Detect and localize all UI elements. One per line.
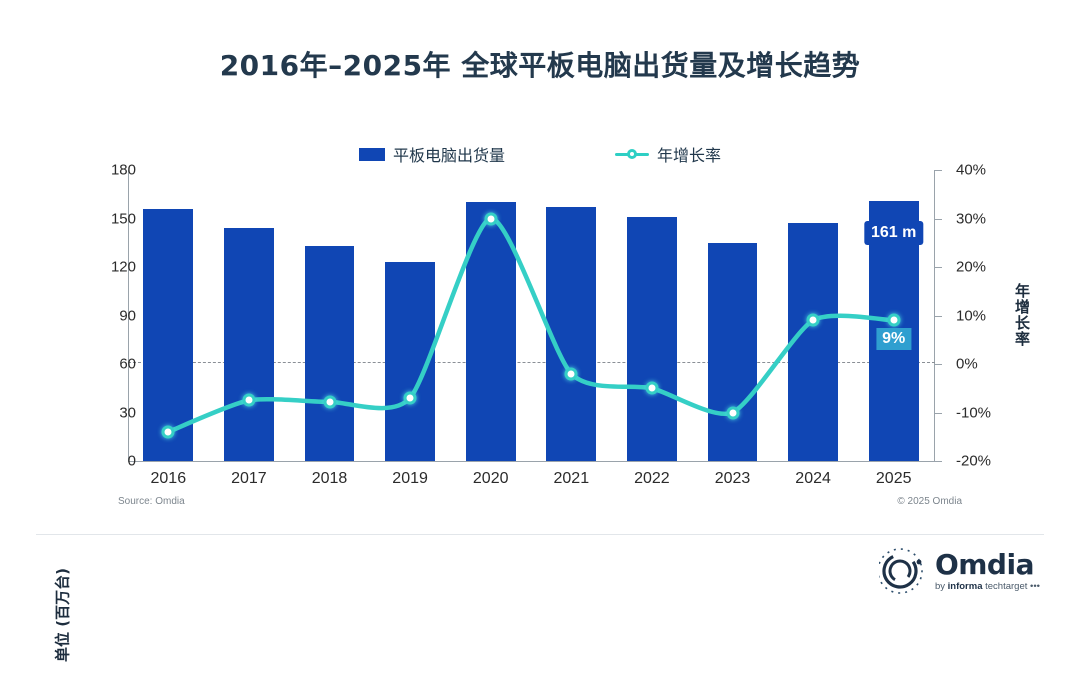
x-axis-label-2021: 2021 [554, 470, 590, 488]
x-axis-label-2023: 2023 [715, 470, 751, 488]
bar-2019[interactable] [385, 262, 435, 461]
left-axis-tick-label: 150 [92, 210, 136, 227]
left-axis-title: 单位 (百万台) [52, 535, 73, 695]
line-marker-2023[interactable] [726, 406, 739, 419]
right-axis-tick-mark [935, 461, 942, 462]
line-marker-2024[interactable] [807, 314, 820, 327]
bar-2022[interactable] [627, 217, 677, 461]
bar-2018[interactable] [305, 246, 355, 461]
chart-page: 2016年–2025年 全球平板电脑出货量及增长趋势 平板电脑出货量 年增长率 … [0, 0, 1080, 608]
tagline-prefix: by [935, 581, 948, 592]
x-axis-label-2024: 2024 [795, 470, 831, 488]
page-title: 2016年–2025年 全球平板电脑出货量及增长趋势 [0, 44, 1080, 84]
chart-legend: 平板电脑出货量 年增长率 [0, 142, 1080, 166]
bar-2023[interactable] [708, 243, 758, 461]
right-axis-tick-label: 30% [956, 210, 1012, 227]
legend-item-bar: 平板电脑出货量 [359, 142, 505, 166]
omdia-tagline: by informa techtarget ••• [935, 582, 1040, 592]
line-marker-2025[interactable] [887, 314, 900, 327]
tagline-suffix: techtarget [982, 581, 1027, 592]
line-marker-2016[interactable] [162, 425, 175, 438]
right-axis-title: 年增长率 [1012, 283, 1033, 347]
x-axis-label-2022: 2022 [634, 470, 670, 488]
tagline-brand: informa [948, 581, 983, 592]
omdia-logo: Omdia by informa techtarget ••• [879, 548, 1040, 594]
line-value-label-2025: 9% [876, 328, 911, 350]
bar-2024[interactable] [788, 223, 838, 461]
left-axis-tick-label: 60 [92, 356, 136, 373]
right-axis-tick-mark [935, 364, 942, 365]
right-axis-tick-mark [935, 267, 942, 268]
line-marker-2019[interactable] [404, 391, 417, 404]
omdia-wordmark: Omdia [935, 551, 1040, 579]
legend-bar-swatch-icon [359, 148, 385, 161]
copyright-note: © 2025 Omdia [897, 496, 962, 507]
legend-line-label: 年增长率 [657, 142, 721, 166]
x-axis-label-2017: 2017 [231, 470, 267, 488]
left-axis-tick-label: 0 [92, 453, 136, 470]
x-axis-line [128, 461, 935, 462]
right-axis-tick-label: 40% [956, 162, 1012, 179]
line-marker-2017[interactable] [242, 394, 255, 407]
omdia-logo-text: Omdia by informa techtarget ••• [935, 551, 1040, 592]
legend-bar-label: 平板电脑出货量 [393, 142, 505, 166]
source-note: Source: Omdia [118, 496, 185, 507]
growth-rate-line [168, 218, 893, 431]
right-axis-tick-label: -10% [956, 404, 1012, 421]
bar-2017[interactable] [224, 228, 274, 461]
right-axis-tick-label: 20% [956, 259, 1012, 276]
right-axis-tick-label: 0% [956, 356, 1012, 373]
right-axis-tick-label: 10% [956, 307, 1012, 324]
line-marker-2018[interactable] [323, 395, 336, 408]
left-axis-tick-label: 90 [92, 307, 136, 324]
x-axis-label-2020: 2020 [473, 470, 509, 488]
bar-2016[interactable] [143, 209, 193, 461]
left-axis-tick-label: 30 [92, 404, 136, 421]
bar-2021[interactable] [546, 207, 596, 461]
tagline-dots-icon: ••• [1030, 581, 1040, 592]
x-axis-label-2025: 2025 [876, 470, 912, 488]
right-axis-tick-mark [935, 170, 942, 171]
x-axis-label-2016: 2016 [151, 470, 187, 488]
footer-divider [36, 534, 1044, 535]
left-axis-tick-label: 180 [92, 162, 136, 179]
right-axis-tick-mark [935, 316, 942, 317]
left-axis-tick-label: 120 [92, 259, 136, 276]
right-axis-tick-mark [935, 219, 942, 220]
bar-value-label-2025: 161 m [864, 221, 923, 245]
legend-line-swatch-icon [615, 147, 649, 161]
line-marker-2022[interactable] [645, 382, 658, 395]
omdia-mark-icon [879, 548, 925, 594]
x-axis-label-2019: 2019 [392, 470, 428, 488]
right-axis-tick-label: -20% [956, 453, 1012, 470]
right-axis-tick-mark [935, 413, 942, 414]
bar-2020[interactable] [466, 202, 516, 461]
line-marker-2020[interactable] [484, 212, 497, 225]
x-axis-label-2018: 2018 [312, 470, 348, 488]
line-marker-2021[interactable] [565, 367, 578, 380]
legend-item-line: 年增长率 [615, 142, 721, 166]
